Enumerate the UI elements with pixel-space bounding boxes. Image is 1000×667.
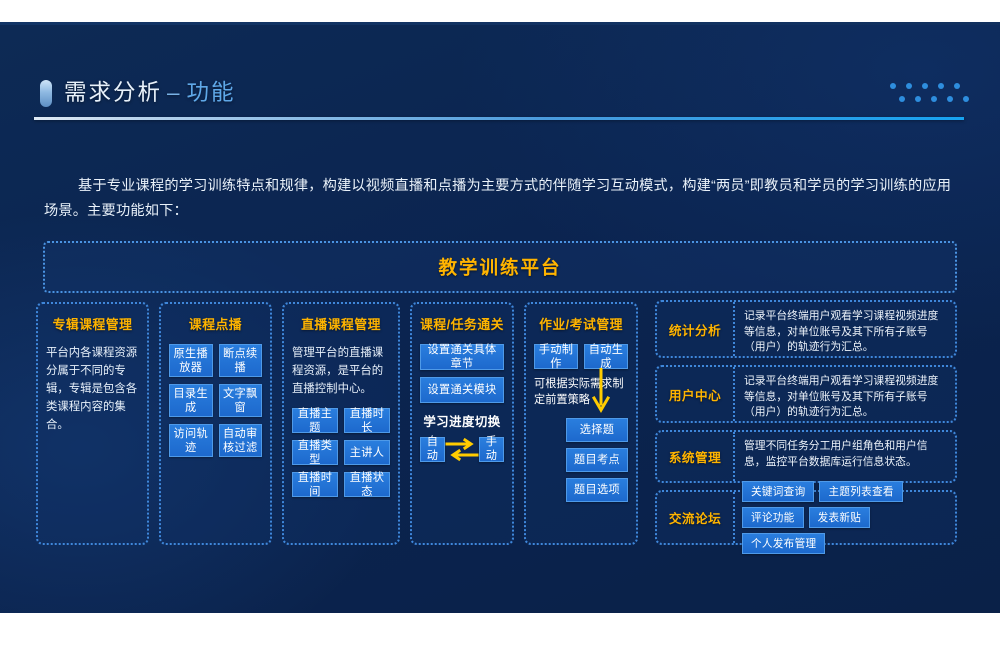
feature-button[interactable]: 直播类型 (292, 440, 338, 465)
column-title: 课程/任务通关 (420, 316, 504, 333)
page-title-sub: 功能 (187, 80, 236, 105)
right-row-label: 用户中心 (657, 367, 735, 421)
column-course-on-demand: 课程点播 原生播放器 断点续播 目录生成 文字飘窗 访问轨迹 自动审核过滤 (159, 302, 272, 545)
decorative-dots (890, 83, 1000, 109)
column-album-course-management: 专辑课程管理 平台内各课程资源分属于不同的专辑，专辑是包含各类课程内容的集合。 (36, 302, 149, 545)
feature-button[interactable]: 直播时长 (344, 408, 390, 433)
slide-header: 需求分析–功能 (38, 71, 962, 127)
feature-button[interactable]: 主讲人 (344, 440, 390, 465)
feature-button[interactable]: 设置通关模块 (420, 377, 504, 403)
feature-button[interactable]: 直播主题 (292, 408, 338, 433)
intro-paragraph: 基于专业课程的学习训练特点和规律，构建以视频直播和点播为主要方式的伴随学习互动模… (44, 174, 964, 224)
column-homework-exam-management: 作业/考试管理 手动制作 自动生成 可根据实际需求制定前置策略 选择题 题目考点… (524, 302, 638, 545)
feature-button[interactable]: 文字飘窗 (219, 384, 263, 417)
right-row-user-center: 用户中心 记录平台终端用户观看学习课程视频进度等信息，对单位账号及其下所有子账号… (655, 365, 957, 423)
dots-row-1 (890, 83, 1000, 89)
feature-button[interactable]: 自动审核过滤 (219, 424, 263, 457)
forum-button[interactable]: 主题列表查看 (819, 481, 902, 502)
right-row-forum: 交流论坛 关键词查询 主题列表查看 评论功能 发表新贴 个人发布管理 (655, 490, 957, 545)
feature-button[interactable]: 选择题 (566, 418, 628, 442)
forum-button[interactable]: 关键词查询 (742, 481, 814, 502)
feature-button[interactable]: 题目选项 (566, 478, 628, 502)
switch-auto-button[interactable]: 自动 (420, 437, 445, 462)
column-description: 平台内各课程资源分属于不同的专辑，专辑是包含各类课程内容的集合。 (46, 344, 139, 434)
right-row-label: 交流论坛 (657, 492, 735, 543)
progress-switch-label: 学习进度切换 (423, 412, 500, 430)
question-button-stack: 选择题 题目考点 题目选项 (534, 418, 628, 502)
feature-button[interactable]: 自动生成 (584, 344, 628, 369)
right-row-statistics: 统计分析 记录平台终端用户观看学习课程视频进度等信息，对单位账号及其下所有子账号… (655, 300, 957, 358)
column-title: 直播课程管理 (301, 316, 381, 333)
forum-button[interactable]: 发表新贴 (809, 507, 871, 528)
switch-manual-button[interactable]: 手动 (479, 437, 504, 462)
column-title: 专辑课程管理 (53, 316, 133, 333)
slide-canvas: 需求分析–功能 基于专业课程的学习训练特点和规律，构建以视频直播和点播为主要方式… (0, 22, 1000, 613)
forum-button[interactable]: 评论功能 (742, 507, 804, 528)
feature-button[interactable]: 断点续播 (219, 344, 263, 377)
progress-switch-control: 自动 手动 (420, 436, 504, 462)
right-row-system-management: 系统管理 管理不同任务分工用户组角色和用户信息，监控平台数据库运行信息状态。 (655, 430, 957, 483)
dots-row-2 (899, 96, 1000, 102)
page-title: 需求分析–功能 (64, 75, 236, 107)
feature-button[interactable]: 设置通关具体章节 (420, 344, 504, 370)
feature-button[interactable]: 直播状态 (344, 472, 390, 497)
platform-banner: 教学训练平台 (43, 241, 957, 293)
feature-columns: 专辑课程管理 平台内各课程资源分属于不同的专辑，专辑是包含各类课程内容的集合。 … (36, 302, 638, 545)
column-button-grid: 手动制作 自动生成 (534, 344, 628, 369)
right-feature-panel: 统计分析 记录平台终端用户观看学习课程视频进度等信息，对单位账号及其下所有子账号… (655, 300, 957, 552)
column-button-grid: 原生播放器 断点续播 目录生成 文字飘窗 访问轨迹 自动审核过滤 (169, 344, 262, 457)
page-title-main: 需求分析 (64, 80, 162, 105)
feature-button[interactable]: 访问轨迹 (169, 424, 213, 457)
feature-button[interactable]: 原生播放器 (169, 344, 213, 377)
forum-button-group: 关键词查询 主题列表查看 评论功能 发表新贴 个人发布管理 (735, 492, 955, 543)
column-course-task-pass: 课程/任务通关 设置通关具体章节 设置通关模块 学习进度切换 自动 手动 (410, 302, 514, 545)
down-arrow-icon (590, 368, 612, 416)
column-title: 作业/考试管理 (539, 316, 623, 333)
feature-button[interactable]: 直播时间 (292, 472, 338, 497)
column-description: 管理平台的直播课程资源，是平台的直播控制中心。 (292, 344, 390, 398)
feature-button[interactable]: 题目考点 (566, 448, 628, 472)
column-button-grid: 直播主题 直播时长 直播类型 主讲人 直播时间 直播状态 (292, 408, 390, 497)
page-title-dash: – (162, 80, 187, 105)
right-row-description: 记录平台终端用户观看学习课程视频进度等信息，对单位账号及其下所有子账号（用户）的… (735, 302, 955, 356)
right-row-description: 记录平台终端用户观看学习课程视频进度等信息，对单位账号及其下所有子账号（用户）的… (735, 367, 955, 421)
right-row-label: 统计分析 (657, 302, 735, 356)
strategy-note: 可根据实际需求制定前置策略 (534, 376, 628, 408)
bidirectional-arrows-icon (445, 436, 479, 462)
header-divider-line (34, 117, 964, 120)
right-row-description: 管理不同任务分工用户组角色和用户信息，监控平台数据库运行信息状态。 (735, 432, 955, 481)
feature-button[interactable]: 目录生成 (169, 384, 213, 417)
column-title: 课程点播 (189, 316, 242, 333)
column-button-grid: 设置通关具体章节 设置通关模块 (420, 344, 504, 403)
forum-button[interactable]: 个人发布管理 (742, 533, 825, 554)
column-live-course-management: 直播课程管理 管理平台的直播课程资源，是平台的直播控制中心。 直播主题 直播时长… (282, 302, 400, 545)
feature-button[interactable]: 手动制作 (534, 344, 578, 369)
title-pill-icon (40, 80, 52, 107)
platform-banner-title: 教学训练平台 (438, 254, 561, 280)
right-row-label: 系统管理 (657, 432, 735, 481)
